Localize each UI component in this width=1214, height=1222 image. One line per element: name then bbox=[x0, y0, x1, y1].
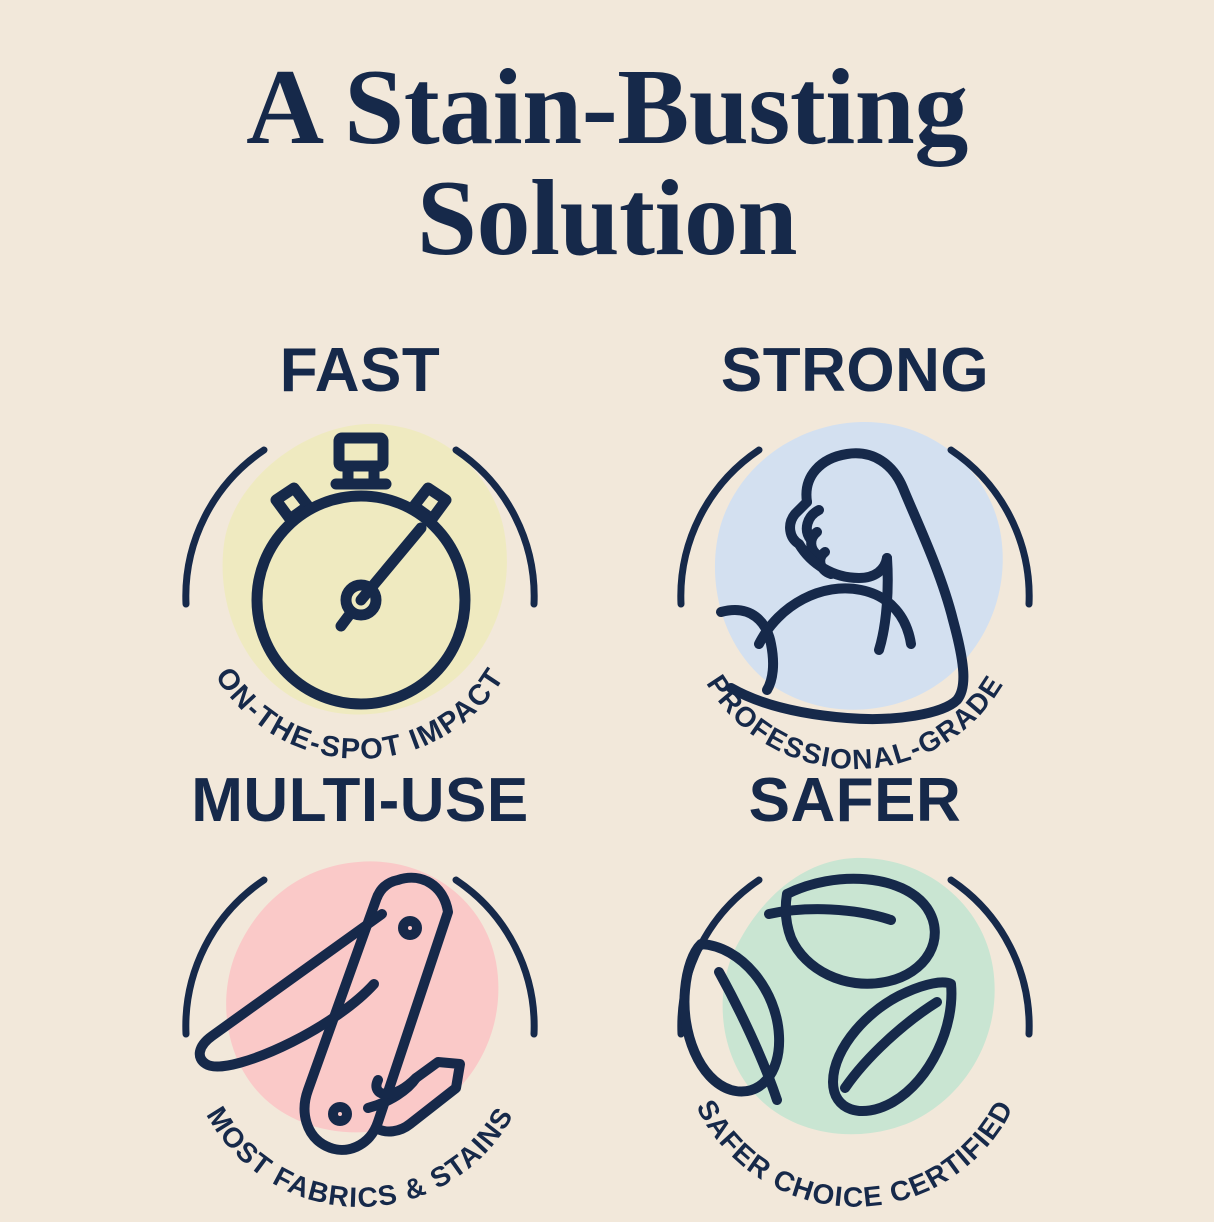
benefit-badge-multi-use: MULTI-USE bbox=[110, 770, 610, 1190]
page-title-line-1: A Stain-Busting bbox=[0, 52, 1214, 163]
benefit-badge-fast: FAST bbox=[110, 340, 610, 760]
badge-graphic-fast: ON-THE-SPOT IMPACT bbox=[160, 392, 560, 792]
badge-graphic-multi-use: MOST FABRICS & STAINS bbox=[160, 822, 560, 1222]
badge-graphic-safer: SAFER CHOICE CERTIFIED bbox=[655, 822, 1055, 1222]
badge-graphic-strong: PROFESSIONAL-GRADE bbox=[655, 392, 1055, 792]
infographic-page: A Stain-Busting Solution FAST bbox=[0, 0, 1214, 1214]
page-title: A Stain-Busting Solution bbox=[0, 52, 1214, 274]
benefit-badge-strong: STRONG bbox=[605, 340, 1105, 760]
benefit-badge-safer: SAFER bbox=[605, 770, 1105, 1190]
page-title-line-2: Solution bbox=[0, 163, 1214, 274]
benefit-badge-grid: FAST bbox=[0, 340, 1214, 1200]
